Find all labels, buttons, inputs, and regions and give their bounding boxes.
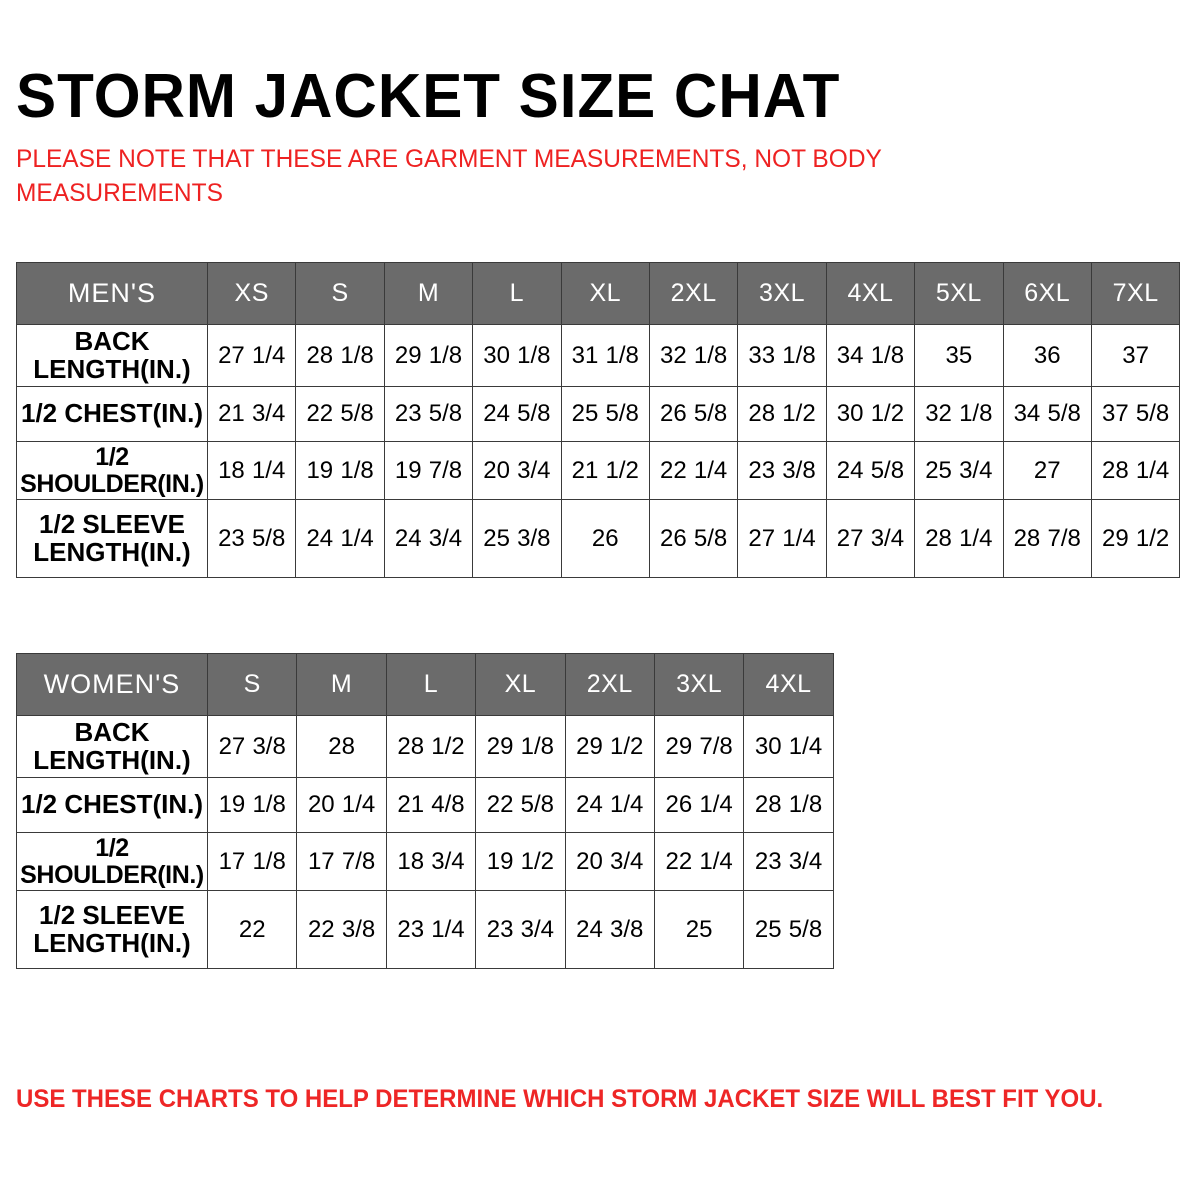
- measurement-row-label: 1/2 SLEEVE LENGTH(IN.): [17, 891, 208, 969]
- measurement-cell: 281/8: [744, 778, 833, 833]
- measurement-cell: 177/8: [297, 833, 386, 891]
- measurement-cell: 291/2: [565, 716, 654, 778]
- mens-table-body: BACK LENGTH(IN.)271/4281/8291/8301/8311/…: [17, 325, 1180, 578]
- measurement-cell: 281/4: [915, 500, 1003, 578]
- size-column-header: 3XL: [654, 654, 743, 716]
- measurement-row-label: 1/2 SHOULDER(IN.): [17, 442, 208, 500]
- measurement-cell: 255/8: [561, 387, 649, 442]
- measurement-cell: 37: [1091, 325, 1179, 387]
- measurement-cell: 241/4: [565, 778, 654, 833]
- measurement-cell: 321/8: [649, 325, 737, 387]
- measurement-cell: 297/8: [654, 716, 743, 778]
- mens-size-table: MEN'SXSSMLXL2XL3XL4XL5XL6XL7XL BACK LENG…: [16, 262, 1180, 578]
- measurement-cell: 235/8: [384, 387, 472, 442]
- size-column-header: XL: [476, 654, 565, 716]
- measurement-cell: 265/8: [649, 387, 737, 442]
- measurement-cell: 201/4: [297, 778, 386, 833]
- measurement-cell: 27: [1003, 442, 1091, 500]
- size-column-header: L: [386, 654, 475, 716]
- size-column-header: 7XL: [1091, 263, 1179, 325]
- measurement-cell: 225/8: [476, 778, 565, 833]
- measurement-cell: 291/8: [476, 716, 565, 778]
- measurement-cell: 245/8: [826, 442, 914, 500]
- use-charts-note: USE THESE CHARTS TO HELP DETERMINE WHICH…: [16, 1083, 1130, 1116]
- mens-table-head: MEN'SXSSMLXL2XL3XL4XL5XL6XL7XL: [17, 263, 1180, 325]
- size-column-header: 5XL: [915, 263, 1003, 325]
- measurement-cell: 245/8: [473, 387, 561, 442]
- measurement-cell: 341/8: [826, 325, 914, 387]
- measurement-cell: 223/8: [297, 891, 386, 969]
- measurement-cell: 191/2: [476, 833, 565, 891]
- measurement-cell: 281/4: [1091, 442, 1179, 500]
- measurement-cell: 281/8: [296, 325, 384, 387]
- measurement-cell: 291/2: [1091, 500, 1179, 578]
- measurement-cell: 265/8: [649, 500, 737, 578]
- table-row: BACK LENGTH(IN.)271/4281/8291/8301/8311/…: [17, 325, 1180, 387]
- size-column-header: XS: [208, 263, 296, 325]
- measurement-cell: 183/4: [386, 833, 475, 891]
- measurement-cell: 261/4: [654, 778, 743, 833]
- measurement-cell: 291/8: [384, 325, 472, 387]
- size-column-header: XL: [561, 263, 649, 325]
- table-row: BACK LENGTH(IN.)273/828281/2291/8291/229…: [17, 716, 834, 778]
- table-row: 1/2 CHEST(IN.)213/4225/8235/8245/8255/82…: [17, 387, 1180, 442]
- measurement-cell: 28: [297, 716, 386, 778]
- measurement-cell: 211/2: [561, 442, 649, 500]
- size-column-header: M: [297, 654, 386, 716]
- size-column-header: 4XL: [826, 263, 914, 325]
- measurement-cell: 243/4: [384, 500, 472, 578]
- table-row: 1/2 SHOULDER(IN.)171/8177/8183/4191/2203…: [17, 833, 834, 891]
- measurement-cell: 311/8: [561, 325, 649, 387]
- measurement-cell: 35: [915, 325, 1003, 387]
- measurement-cell: 271/4: [738, 500, 826, 578]
- measurement-cell: 287/8: [1003, 500, 1091, 578]
- size-column-header: L: [473, 263, 561, 325]
- measurement-cell: 171/8: [208, 833, 297, 891]
- measurement-cell: 22: [208, 891, 297, 969]
- size-column-header: 2XL: [649, 263, 737, 325]
- measurement-cell: 36: [1003, 325, 1091, 387]
- measurement-cell: 331/8: [738, 325, 826, 387]
- womens-table-body: BACK LENGTH(IN.)273/828281/2291/8291/229…: [17, 716, 834, 969]
- measurement-cell: 203/4: [473, 442, 561, 500]
- measurement-row-label: 1/2 CHEST(IN.): [17, 778, 208, 833]
- measurement-row-label: 1/2 SLEEVE LENGTH(IN.): [17, 500, 208, 578]
- table-row: 1/2 SHOULDER(IN.)181/4191/8197/8203/4211…: [17, 442, 1180, 500]
- page-title: STORM JACKET SIZE CHAT: [16, 64, 840, 129]
- womens-corner-label: WOMEN'S: [17, 654, 208, 716]
- womens-table-head: WOMEN'SSMLXL2XL3XL4XL: [17, 654, 834, 716]
- measurement-cell: 25: [654, 891, 743, 969]
- measurement-cell: 281/2: [738, 387, 826, 442]
- table-row: 1/2 CHEST(IN.)191/8201/4214/8225/8241/42…: [17, 778, 834, 833]
- measurement-cell: 231/4: [386, 891, 475, 969]
- measurement-cell: 375/8: [1091, 387, 1179, 442]
- measurement-cell: 301/8: [473, 325, 561, 387]
- measurement-cell: 281/2: [386, 716, 475, 778]
- measurement-cell: 233/4: [476, 891, 565, 969]
- measurement-cell: 214/8: [386, 778, 475, 833]
- measurement-cell: 191/8: [296, 442, 384, 500]
- measurement-cell: 233/8: [738, 442, 826, 500]
- measurement-row-label: BACK LENGTH(IN.): [17, 325, 208, 387]
- table-row: 1/2 SLEEVE LENGTH(IN.)235/8241/4243/4253…: [17, 500, 1180, 578]
- measurement-cell: 345/8: [1003, 387, 1091, 442]
- size-column-header: 2XL: [565, 654, 654, 716]
- measurement-cell: 235/8: [208, 500, 296, 578]
- size-column-header: 6XL: [1003, 263, 1091, 325]
- measurement-cell: 191/8: [208, 778, 297, 833]
- size-chart-page: STORM JACKET SIZE CHAT PLEASE NOTE THAT …: [0, 0, 1200, 1200]
- measurement-cell: 301/2: [826, 387, 914, 442]
- measurement-cell: 273/8: [208, 716, 297, 778]
- mens-header-row: MEN'SXSSMLXL2XL3XL4XL5XL6XL7XL: [17, 263, 1180, 325]
- measurement-cell: 221/4: [654, 833, 743, 891]
- measurement-cell: 241/4: [296, 500, 384, 578]
- measurement-cell: 255/8: [744, 891, 833, 969]
- size-column-header: M: [384, 263, 472, 325]
- measurement-cell: 253/8: [473, 500, 561, 578]
- measurement-cell: 221/4: [649, 442, 737, 500]
- measurement-cell: 203/4: [565, 833, 654, 891]
- mens-corner-label: MEN'S: [17, 263, 208, 325]
- measurement-row-label: 1/2 SHOULDER(IN.): [17, 833, 208, 891]
- table-row: 1/2 SLEEVE LENGTH(IN.)22223/8231/4233/42…: [17, 891, 834, 969]
- measurement-row-label: 1/2 CHEST(IN.): [17, 387, 208, 442]
- size-column-header: 4XL: [744, 654, 833, 716]
- measurement-cell: 253/4: [915, 442, 1003, 500]
- measurement-cell: 301/4: [744, 716, 833, 778]
- womens-size-table: WOMEN'SSMLXL2XL3XL4XL BACK LENGTH(IN.)27…: [16, 653, 834, 969]
- measurement-cell: 273/4: [826, 500, 914, 578]
- measurement-cell: 233/4: [744, 833, 833, 891]
- size-column-header: S: [208, 654, 297, 716]
- womens-header-row: WOMEN'SSMLXL2XL3XL4XL: [17, 654, 834, 716]
- measurement-cell: 213/4: [208, 387, 296, 442]
- measurement-cell: 321/8: [915, 387, 1003, 442]
- measurement-cell: 26: [561, 500, 649, 578]
- measurement-cell: 197/8: [384, 442, 472, 500]
- size-column-header: 3XL: [738, 263, 826, 325]
- size-column-header: S: [296, 263, 384, 325]
- measurement-cell: 271/4: [208, 325, 296, 387]
- measurement-cell: 243/8: [565, 891, 654, 969]
- garment-measurement-note: PLEASE NOTE THAT THESE ARE GARMENT MEASU…: [16, 143, 957, 211]
- measurement-cell: 181/4: [208, 442, 296, 500]
- measurement-cell: 225/8: [296, 387, 384, 442]
- measurement-row-label: BACK LENGTH(IN.): [17, 716, 208, 778]
